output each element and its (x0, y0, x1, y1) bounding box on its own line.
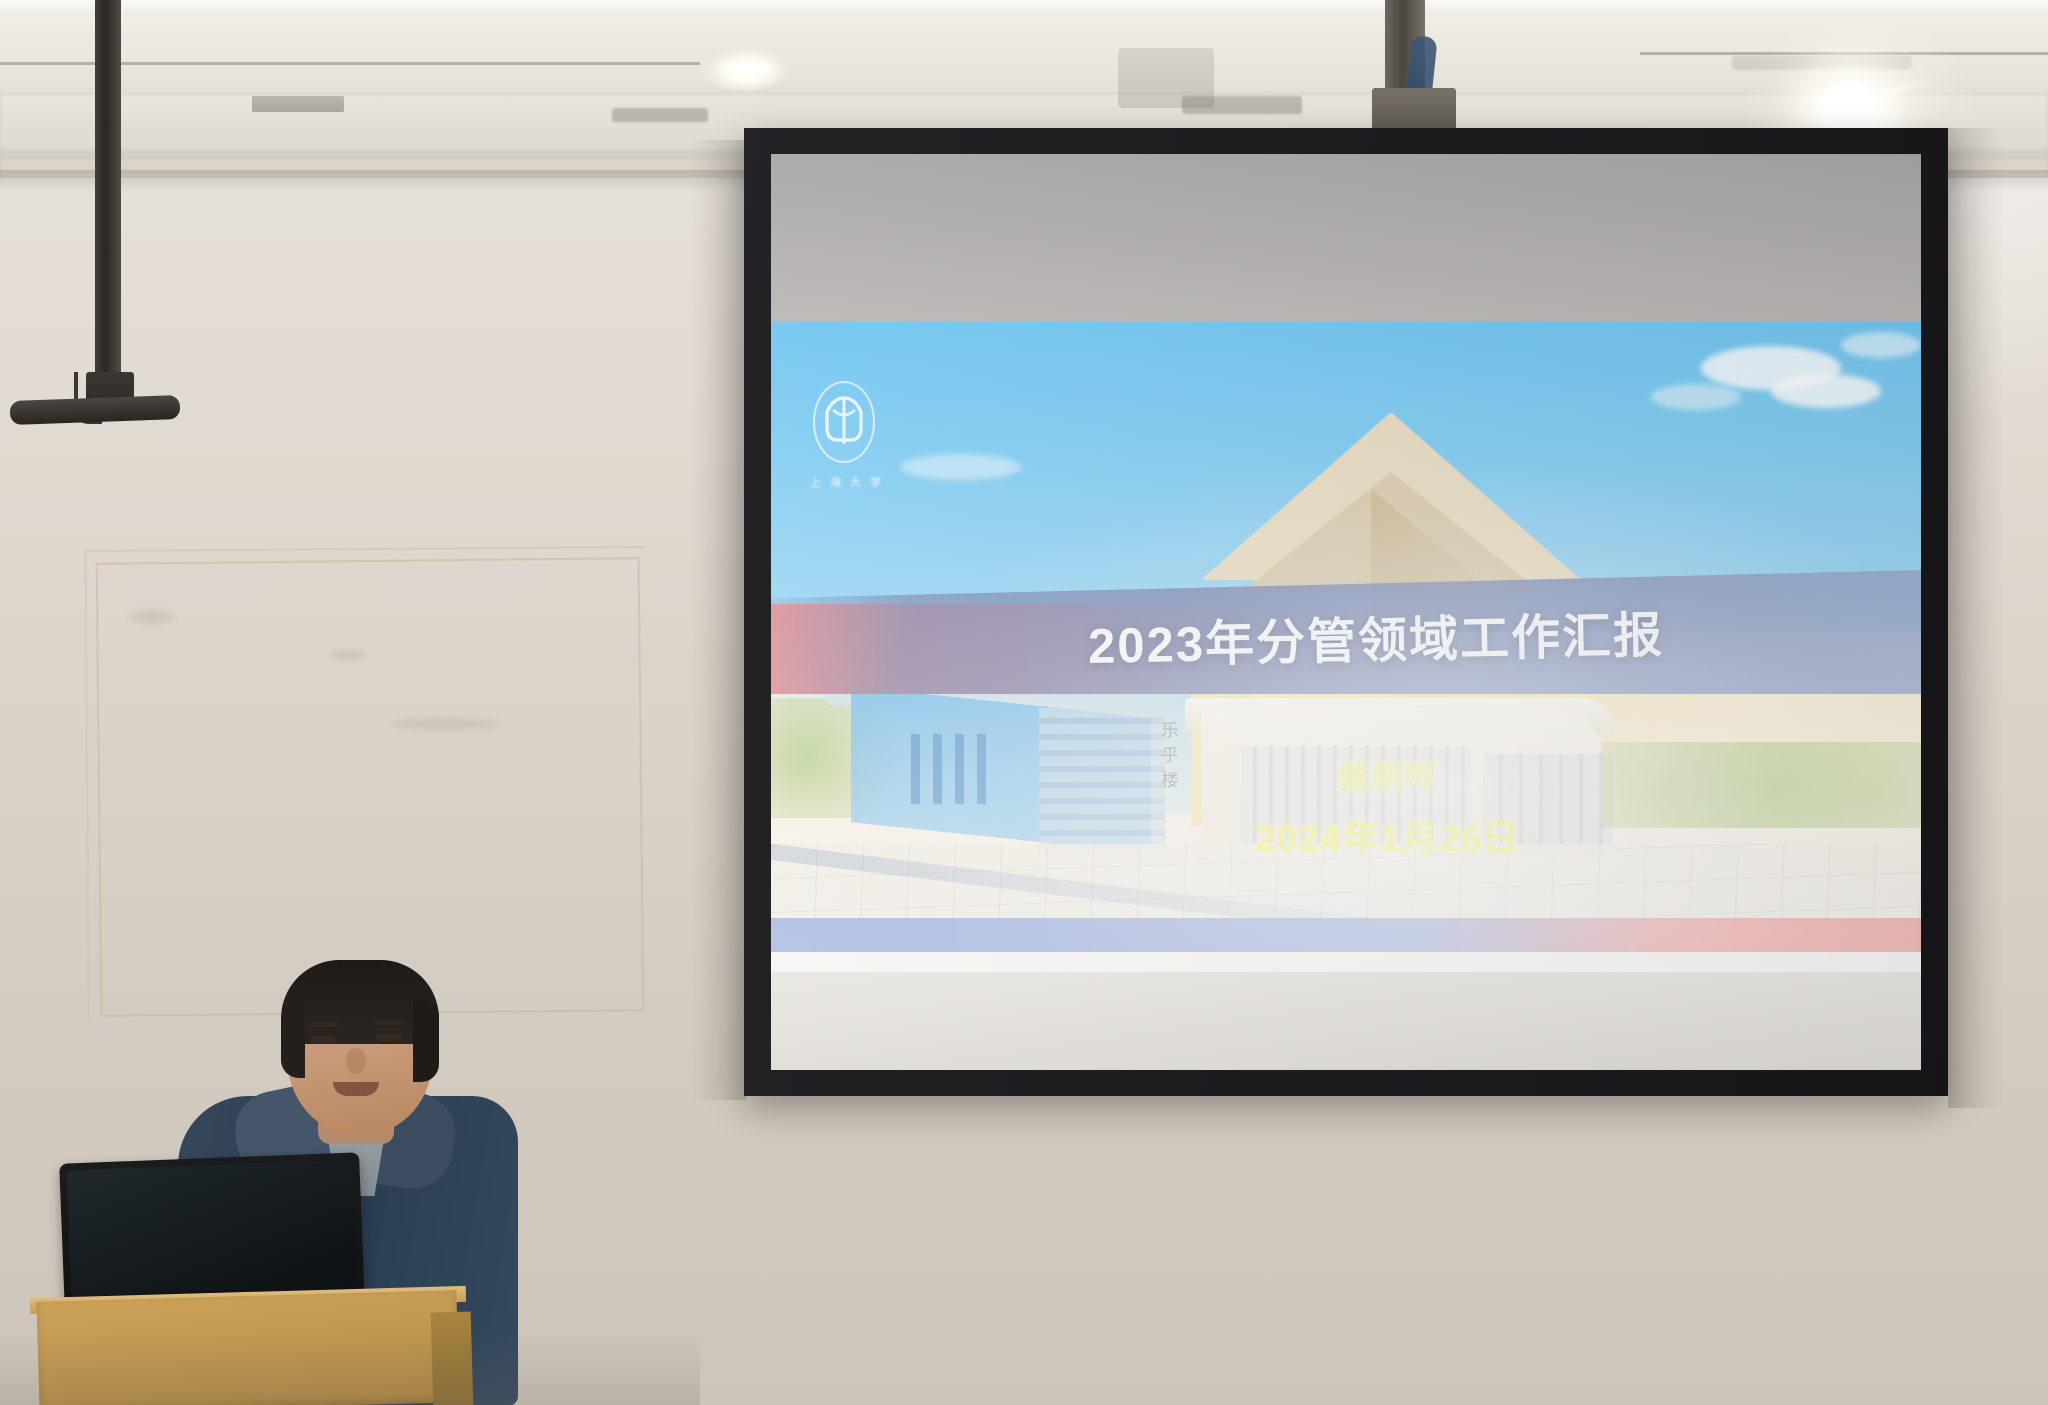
tree-cluster-icon (771, 698, 911, 818)
wall-tape-outline (96, 557, 645, 1017)
plaza-paving-pattern (771, 844, 1921, 972)
campus-illustration: 乐 乎 楼 (771, 694, 1921, 972)
building-sign-char: 乎 (1162, 747, 1179, 764)
presenter-brow (308, 1022, 338, 1027)
presenter-hair (281, 1004, 305, 1078)
shanghai-university-magnolia-logo (809, 376, 879, 468)
monitor-screen[interactable] (66, 1160, 357, 1297)
wall-smudge (330, 650, 366, 660)
screen-cast-shadow (1948, 128, 2004, 1108)
university-name-text: 上 海 大 学 (795, 474, 899, 490)
building-window (911, 734, 920, 805)
ceiling-vent (252, 96, 344, 112)
ceiling-stain (612, 108, 708, 122)
slide-coral-band (771, 604, 1921, 724)
projection-screen-surface: 上 海 大 学 2023年分管领域工作汇报 (771, 154, 1921, 1070)
wall-smudge (390, 718, 500, 730)
gate-building-roof (1201, 412, 1581, 580)
building-window (955, 734, 964, 805)
campus-plaza (771, 844, 1921, 972)
main-building (1201, 708, 1601, 858)
projection-screen-frame: 上 海 大 学 2023年分管领域工作汇报 (744, 128, 1948, 1096)
presentation-slide[interactable]: 上 海 大 学 2023年分管领域工作汇报 (771, 322, 1921, 972)
cloud-icon (1771, 374, 1881, 408)
building-sign-char: 乐 (1162, 722, 1179, 739)
slide-footer-white (771, 952, 1921, 972)
lecture-room-scene: 上 海 大 学 2023年分管领域工作汇报 (0, 0, 2048, 1405)
wall-smudge (130, 610, 174, 624)
building-sign-char: 楼 (1162, 772, 1179, 789)
ceiling-tile-edge (0, 0, 2048, 14)
display-mount-pole (95, 0, 121, 380)
screen-unlit-top-area (771, 154, 1921, 322)
main-building-roof (1185, 698, 1615, 732)
campus-sky-cool (771, 694, 1251, 814)
screen-cast-shadow (690, 140, 746, 1100)
cloud-icon (1701, 346, 1841, 390)
floor-shadow (0, 1330, 700, 1405)
slide-title: 2023年分管领域工作汇报 (771, 591, 1921, 684)
slide-title-banner (771, 569, 1921, 723)
slide-presenter-name: 戴朝晖 (771, 752, 1921, 797)
presenter-eye (376, 1034, 402, 1041)
projector-light-washout (771, 322, 1921, 972)
presenter-hair (413, 1000, 439, 1082)
plaza-walkway (771, 839, 1429, 940)
presenter-eye (310, 1036, 336, 1043)
building-vertical-sign: 乐 乎 楼 (1159, 722, 1181, 789)
main-building-glass-facade (1241, 746, 1471, 844)
left-building-roof (827, 694, 1157, 739)
cloud-icon (1841, 332, 1921, 358)
cloud-icon (1651, 384, 1741, 410)
left-building (851, 694, 1151, 854)
ceiling-spotlight (1818, 82, 1876, 132)
screen-unlit-bottom-area (771, 972, 1921, 1070)
slide-footer-band (771, 918, 1921, 952)
ceiling-diffuser (1118, 48, 1214, 108)
building-window (977, 734, 986, 805)
ceiling-downlight (728, 64, 770, 73)
campus-sunset-sky (1191, 694, 1921, 826)
presenter-nose (346, 1048, 366, 1074)
slide-date: 2024年1月26日 (771, 808, 1921, 862)
cloud-icon (901, 454, 1021, 480)
presenter-mouth (333, 1082, 379, 1096)
building-window (933, 734, 942, 805)
tower-building (1039, 708, 1165, 856)
slide-sky-background (771, 322, 1921, 632)
main-building-glass-facade (1483, 754, 1613, 846)
tree-cluster-icon (1601, 742, 1921, 828)
gate-building-shading (1371, 432, 1531, 622)
presenter-brow (374, 1020, 404, 1025)
gate-building-roof-lower (1241, 472, 1541, 592)
